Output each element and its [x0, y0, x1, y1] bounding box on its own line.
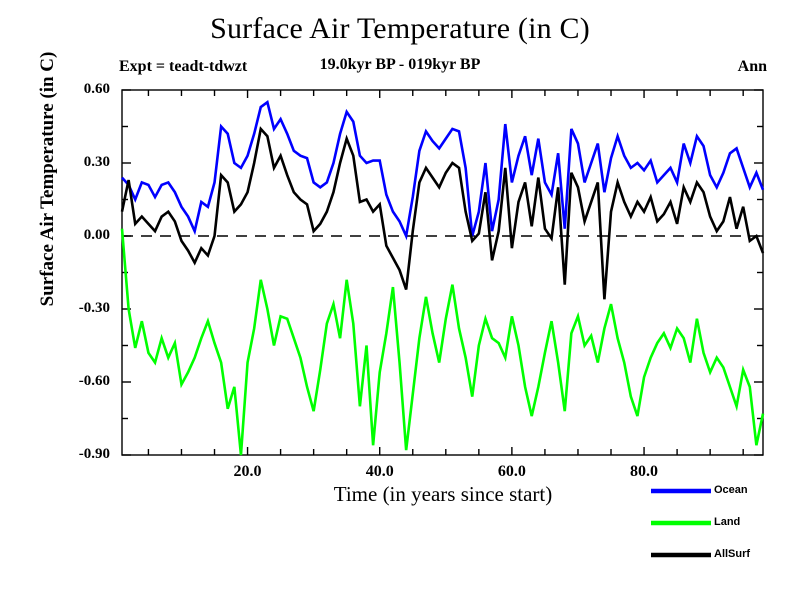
y-tick-label: 0.00 [48, 227, 110, 244]
legend-label-land: Land [714, 516, 740, 528]
series-line-ocean [122, 102, 763, 236]
x-tick-label: 20.0 [213, 463, 283, 481]
y-tick-label: 0.60 [48, 81, 110, 98]
x-tick-label: 60.0 [477, 463, 547, 481]
y-tick-label: -0.60 [48, 373, 110, 390]
plot-canvas [0, 0, 800, 600]
x-tick-label: 40.0 [345, 463, 415, 481]
data-series-group [122, 102, 763, 455]
legend-swatches [651, 491, 711, 555]
y-tick-label: -0.30 [48, 300, 110, 317]
legend-label-ocean: Ocean [714, 484, 748, 496]
series-line-land [122, 229, 763, 455]
x-tick-label: 80.0 [609, 463, 679, 481]
y-tick-label: -0.90 [48, 446, 110, 463]
legend-label-allsurf: AllSurf [714, 548, 750, 560]
y-tick-label: 0.30 [48, 154, 110, 171]
chart-page: Surface Air Temperature (in C) 19.0kyr B… [0, 0, 800, 600]
